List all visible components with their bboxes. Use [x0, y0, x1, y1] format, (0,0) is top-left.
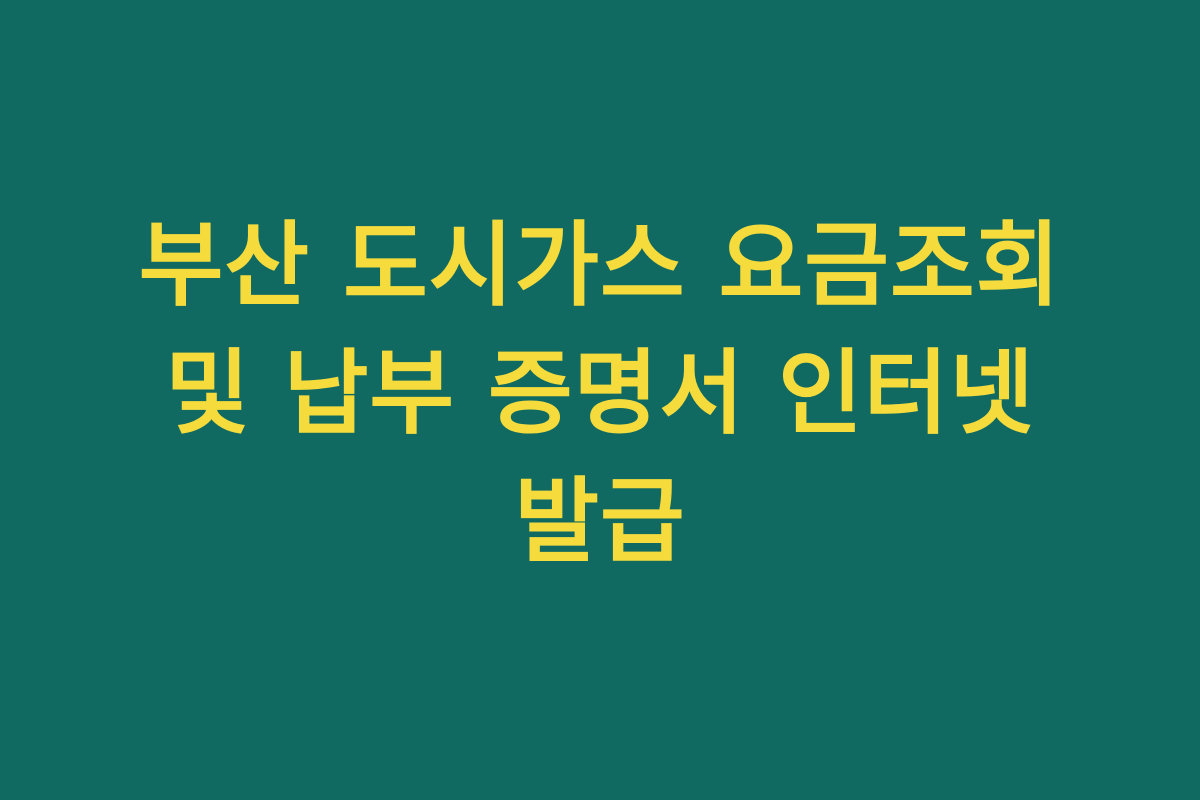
title-line-1: 부산 도시가스 요금조회	[139, 202, 1061, 330]
banner-canvas: 부산 도시가스 요금조회 및 납부 증명서 인터넷 발급	[0, 0, 1200, 800]
page-title: 부산 도시가스 요금조회 및 납부 증명서 인터넷 발급	[70, 202, 1130, 586]
title-line-3: 발급	[514, 458, 685, 586]
title-line-2: 및 납부 증명서 인터넷	[165, 330, 1035, 458]
